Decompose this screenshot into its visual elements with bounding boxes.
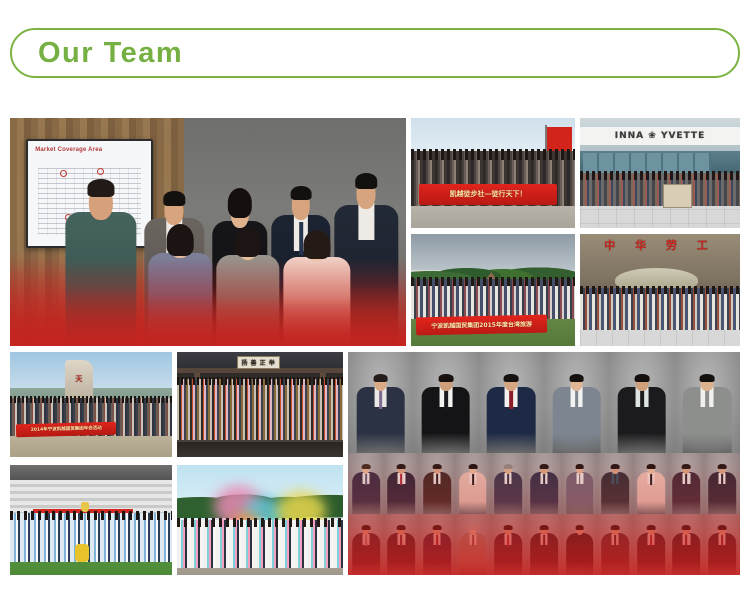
crowd-heads <box>580 171 740 180</box>
portrait-hair <box>433 525 442 530</box>
portrait-hair <box>439 374 453 382</box>
portrait-1 <box>356 364 404 453</box>
portrait-cell[interactable] <box>413 352 478 453</box>
portrait-hair <box>468 464 477 469</box>
portrait-hair <box>575 525 584 530</box>
crowd-heads <box>10 396 172 403</box>
portrait-5 <box>618 364 666 453</box>
portrait-tie <box>650 474 652 485</box>
screen-title: Market Coverage Area <box>35 147 102 153</box>
portrait-tie <box>379 389 382 409</box>
portrait-hair <box>397 525 406 530</box>
portrait-24 <box>566 520 594 575</box>
photo-inna-yvette-storefront[interactable]: INNA ❀ YVETTE <box>580 118 740 228</box>
soccer-team <box>10 513 172 561</box>
portrait-cell[interactable] <box>455 514 491 575</box>
portrait-27 <box>673 520 701 575</box>
portrait-tie <box>400 474 402 485</box>
portrait-cell[interactable] <box>419 453 455 514</box>
portrait-8 <box>388 459 416 514</box>
photo-soccer-team-trophy[interactable] <box>10 465 172 575</box>
portrait-cell[interactable] <box>479 352 544 453</box>
portrait-tie <box>706 389 709 409</box>
team-photo-gallery: Market Coverage Area <box>0 0 750 606</box>
crowd-heads <box>411 149 575 160</box>
portrait-row-3 <box>348 514 740 575</box>
portrait-tie <box>510 389 513 409</box>
portrait-26 <box>637 520 665 575</box>
portrait-6 <box>683 364 731 453</box>
portrait-tie <box>507 474 509 485</box>
portrait-tie <box>365 474 367 485</box>
portrait-hair <box>718 525 727 530</box>
portrait-tie <box>614 535 616 546</box>
portrait-cell[interactable] <box>384 453 420 514</box>
portrait-cell[interactable] <box>562 453 598 514</box>
portrait-25 <box>601 520 629 575</box>
portrait-hair <box>504 374 518 382</box>
portrait-cell[interactable] <box>348 514 384 575</box>
portrait-cell[interactable] <box>675 352 740 453</box>
portrait-hair <box>611 525 620 530</box>
portrait-21 <box>459 520 487 575</box>
banner-text: 凯越徒步社—徒行天下！ <box>419 184 557 205</box>
portrait-tie <box>686 535 688 546</box>
event-banner: 宁波凯越国贸集团2015年度台湾旅游 <box>416 314 548 335</box>
portrait-tie <box>472 535 474 546</box>
portrait-4 <box>552 364 600 453</box>
portrait-tie <box>721 474 723 485</box>
portrait-row-1 <box>348 352 740 453</box>
portrait-11 <box>494 459 522 514</box>
portrait-cell[interactable] <box>384 514 420 575</box>
portrait-tie <box>579 474 581 485</box>
portrait-tie <box>575 389 578 409</box>
portrait-hair <box>635 374 649 382</box>
portrait-hair <box>397 464 406 469</box>
monument-inscription: 天 <box>65 363 93 397</box>
crowd-heads <box>10 511 172 520</box>
portrait-2 <box>422 364 470 453</box>
portrait-12 <box>530 459 558 514</box>
portrait-cell[interactable] <box>491 514 527 575</box>
portrait-cell[interactable] <box>348 453 384 514</box>
crowd <box>177 379 343 440</box>
portrait-hair <box>361 525 370 530</box>
team-member <box>65 154 136 346</box>
photo-rock-carving-monument[interactable]: 中 华 劳 工 <box>580 234 740 346</box>
portrait-tie <box>650 535 652 546</box>
portrait-hair <box>468 525 477 530</box>
portrait-tie <box>507 535 509 546</box>
portrait-tie <box>614 474 616 485</box>
portrait-row-2 <box>348 453 740 514</box>
portrait-hair <box>700 374 714 382</box>
rock-carving-text: 中 华 劳 工 <box>580 236 740 254</box>
crowd-heads <box>177 377 343 384</box>
color-run-crowd <box>177 520 343 568</box>
portrait-cell[interactable] <box>609 352 674 453</box>
portrait-tie <box>444 389 447 409</box>
portrait-tie <box>721 535 723 546</box>
portrait-3 <box>487 364 535 453</box>
portrait-18 <box>352 520 380 575</box>
portrait-hair <box>540 525 549 530</box>
portrait-hair <box>682 464 691 469</box>
crowd-heads <box>411 277 575 286</box>
portrait-tie <box>543 535 545 546</box>
goalkeeper <box>75 544 90 562</box>
portrait-tie <box>543 474 545 485</box>
portrait-cell[interactable] <box>597 453 633 514</box>
portrait-14 <box>601 459 629 514</box>
team-page: Our Team Market Coverage Area <box>0 0 750 606</box>
portrait-cell[interactable] <box>348 352 413 453</box>
portrait-hair <box>373 374 387 382</box>
portrait-tie <box>472 474 474 485</box>
portrait-20 <box>423 520 451 575</box>
portrait-22 <box>494 520 522 575</box>
portrait-16 <box>673 459 701 514</box>
portrait-hair <box>504 525 513 530</box>
portrait-hair <box>611 464 620 469</box>
portrait-cell[interactable] <box>669 453 705 514</box>
photo-color-run[interactable] <box>177 465 343 575</box>
portrait-hair <box>682 525 691 530</box>
portrait-tie <box>686 474 688 485</box>
portrait-cell[interactable] <box>562 514 598 575</box>
portrait-tie <box>436 535 438 546</box>
portrait-cell[interactable] <box>419 514 455 575</box>
portrait-tie <box>640 389 643 409</box>
portrait-cell[interactable] <box>455 453 491 514</box>
portrait-cell[interactable] <box>704 453 740 514</box>
portrait-cell[interactable] <box>526 453 562 514</box>
portrait-cell[interactable] <box>633 514 669 575</box>
china-flag <box>547 127 572 151</box>
photo-hiking-club-banner[interactable]: 凯越徒步社—徒行天下！ <box>411 118 575 228</box>
portrait-9 <box>423 459 451 514</box>
portrait-15 <box>637 459 665 514</box>
portrait-cell[interactable] <box>633 453 669 514</box>
portrait-17 <box>708 459 736 514</box>
portrait-13 <box>566 459 594 514</box>
team-member <box>216 223 279 346</box>
portrait-7 <box>352 459 380 514</box>
portrait-cell[interactable] <box>669 514 705 575</box>
portrait-10 <box>459 459 487 514</box>
portrait-hair <box>433 464 442 469</box>
photo-boardroom-team[interactable]: Market Coverage Area <box>10 118 406 346</box>
portrait-hair <box>540 464 549 469</box>
portrait-tie <box>579 535 581 546</box>
portrait-tie <box>365 535 367 546</box>
photo-taiwan-trip-2015[interactable]: 宁波凯越国贸集团2015年度台湾旅游 <box>411 234 575 346</box>
portrait-cell[interactable] <box>491 453 527 514</box>
portrait-cell[interactable] <box>704 514 740 575</box>
portrait-28 <box>708 520 736 575</box>
portrait-tie <box>400 535 402 546</box>
crowd-heads <box>177 518 343 527</box>
portrait-tie <box>436 474 438 485</box>
portrait-hair <box>575 464 584 469</box>
portrait-cell[interactable] <box>597 514 633 575</box>
photo-portrait-grid[interactable] <box>348 352 740 575</box>
portrait-hair <box>718 464 727 469</box>
photo-annual-meeting-monument[interactable]: 天 2014年宁波凯越国贸集团年会活动 <box>10 352 172 457</box>
banner-text: 宁波凯越国贸集团2015年度台湾旅游 <box>416 314 548 335</box>
event-banner: 凯越徒步社—徒行天下！ <box>419 184 557 205</box>
photo-temple-steps-group[interactable]: 扬 善 正 举 <box>177 352 343 457</box>
portrait-cell[interactable] <box>526 514 562 575</box>
display-board <box>663 184 692 208</box>
plaque-text: 扬 善 正 举 <box>237 356 280 369</box>
portrait-23 <box>530 520 558 575</box>
team-member <box>149 221 212 346</box>
store-sign-text: INNA ❀ YVETTE <box>580 128 740 145</box>
portrait-19 <box>388 520 416 575</box>
crowd-heads <box>580 286 740 295</box>
portrait-hair <box>361 464 370 469</box>
portrait-hair <box>569 374 583 382</box>
portrait-hair <box>646 525 655 530</box>
portrait-hair <box>504 464 513 469</box>
portrait-cell[interactable] <box>544 352 609 453</box>
team-member <box>283 225 350 346</box>
portrait-hair <box>646 464 655 469</box>
